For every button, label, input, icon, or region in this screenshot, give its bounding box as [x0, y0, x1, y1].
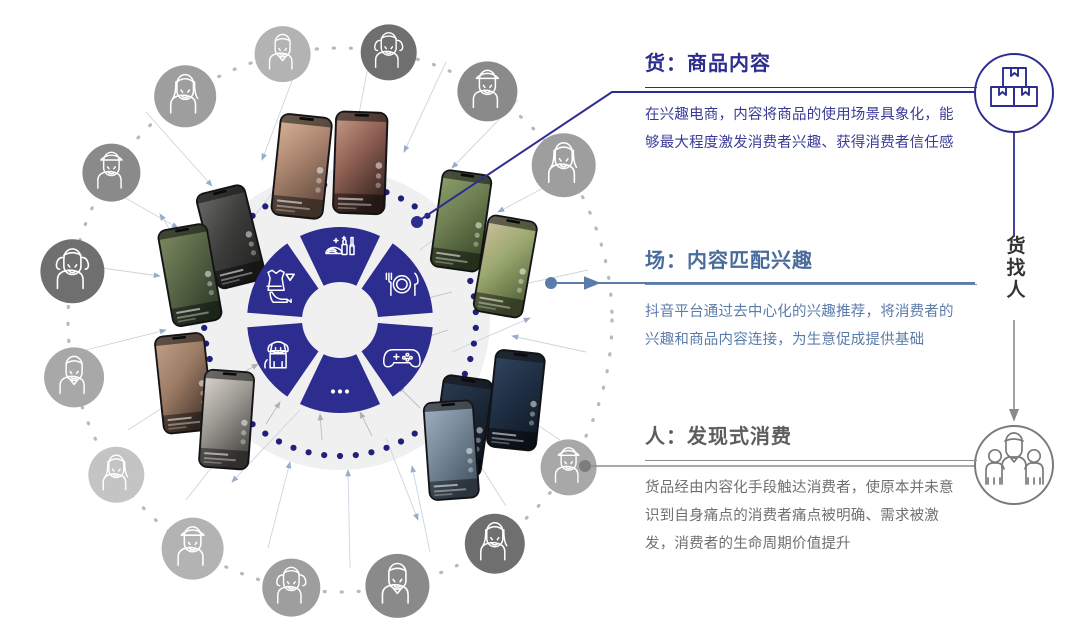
avatar-node	[154, 65, 216, 127]
heading-chang: 场：内容匹配兴趣	[645, 251, 977, 271]
rule-huo	[645, 87, 977, 88]
avatar-node	[44, 347, 104, 407]
vertical-flow-label: 货 找 人	[1003, 236, 1029, 303]
avatar-node	[465, 514, 525, 574]
vertical-label-char-2: 人	[1003, 280, 1029, 302]
vertical-label-char-1: 找	[1003, 258, 1029, 280]
avatar-node	[457, 61, 517, 121]
body-chang: 抖音平台通过去中心化的兴趣推荐，将消费者的兴趣和商品内容连接，为生意促成提供基础	[645, 299, 967, 355]
phone-mockup	[198, 368, 256, 471]
phone-mockup	[485, 348, 546, 452]
body-ren: 货品经由内容化手段触达消费者，使原本并未意识到自身痛点的消费者痛点被明确、需求被…	[645, 475, 967, 559]
infographic-canvas: 货：商品内容 在兴趣电商，内容将商品的使用场景具象化，能够最大程度激发消费者兴趣…	[0, 0, 1080, 626]
avatar-node	[255, 26, 311, 82]
avatar-node	[361, 24, 417, 80]
phone-mockup	[332, 110, 389, 215]
avatar-node	[262, 559, 320, 617]
text-block-ren: 人：发现式消费 货品经由内容化手段触达消费者，使原本并未意识到自身痛点的消费者痛…	[645, 427, 977, 559]
avatar-node	[532, 133, 596, 197]
rule-ren	[645, 460, 977, 461]
phone-mockup	[422, 399, 480, 502]
heading-huo: 货：商品内容	[645, 54, 977, 74]
avatar-node	[365, 554, 429, 618]
phone-mockup	[270, 112, 334, 220]
body-huo: 在兴趣电商，内容将商品的使用场景具象化，能够最大程度激发消费者兴趣、获得消费者信…	[645, 102, 967, 158]
avatar-node	[162, 518, 224, 580]
node-people	[975, 426, 1053, 504]
node-goods	[975, 54, 1053, 132]
avatar-node	[40, 239, 104, 303]
rule-chang	[645, 284, 977, 285]
avatar-node	[88, 447, 144, 503]
avatar-node	[82, 144, 140, 202]
heading-ren: 人：发现式消费	[645, 427, 977, 447]
text-block-chang: 场：内容匹配兴趣 抖音平台通过去中心化的兴趣推荐，将消费者的兴趣和商品内容连接，…	[645, 251, 977, 355]
text-block-huo: 货：商品内容 在兴趣电商，内容将商品的使用场景具象化，能够最大程度激发消费者兴趣…	[645, 54, 977, 158]
ellipsis-icon	[331, 389, 349, 393]
vertical-label-char-0: 货	[1003, 236, 1029, 258]
